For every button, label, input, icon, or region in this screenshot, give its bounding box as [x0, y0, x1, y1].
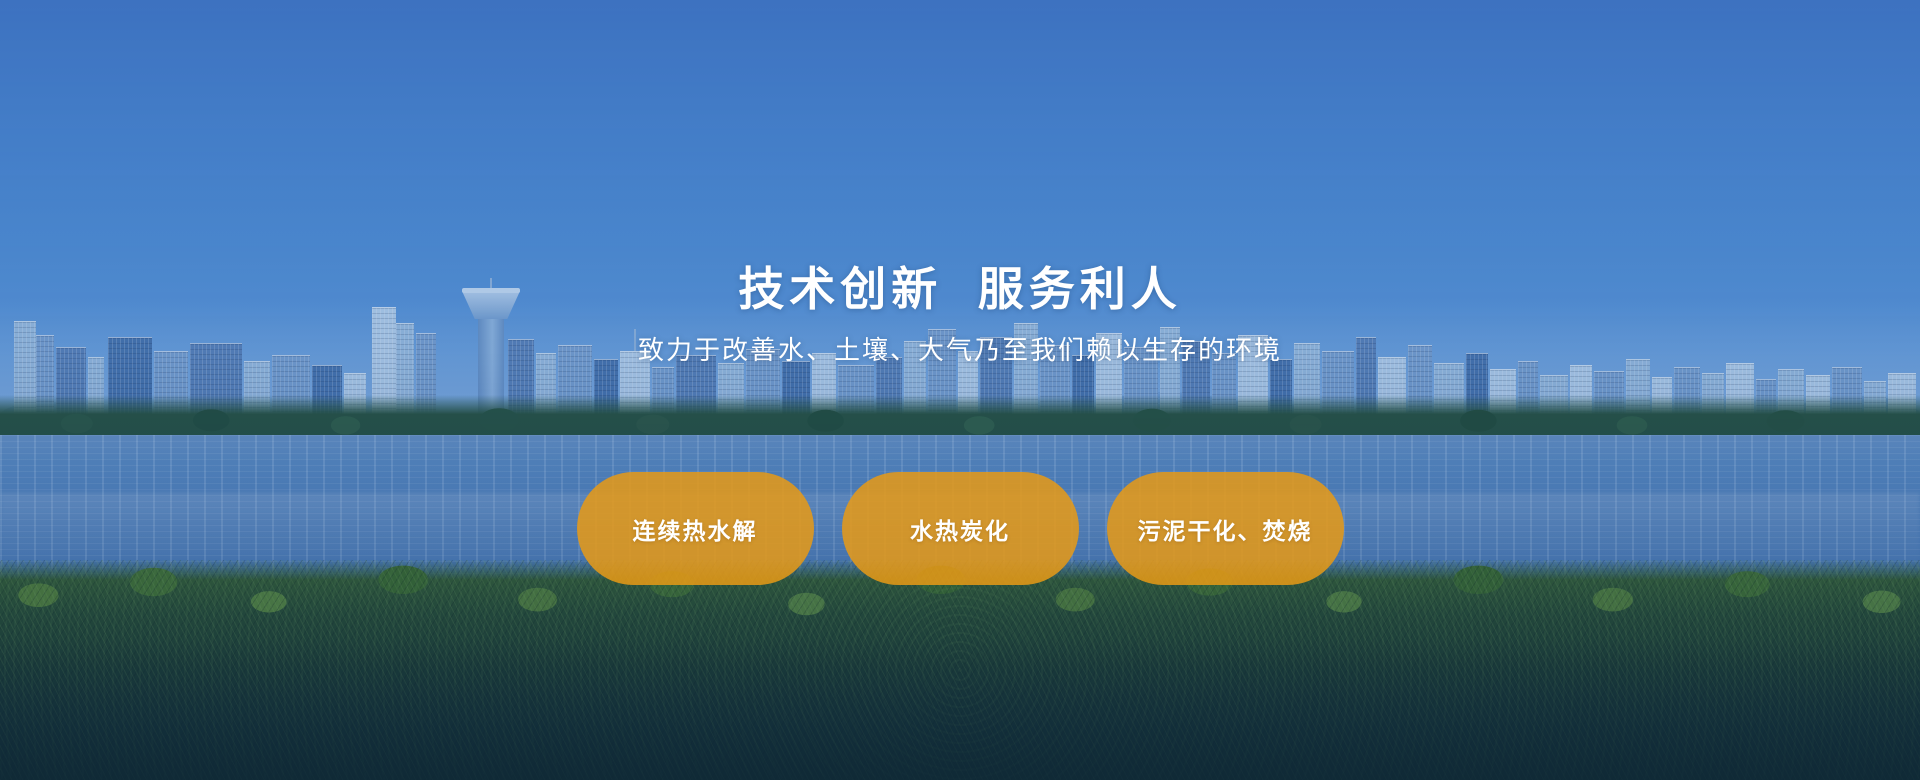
cta-button-row: 连续热水解 水热炭化 污泥干化、焚烧 — [0, 472, 1920, 585]
cta-button-hydrothermal-carbonization[interactable]: 水热炭化 — [842, 472, 1079, 585]
hero-copy: 技术创新 服务利人 致力于改善水、土壤、大气乃至我们赖以生存的环境 — [0, 262, 1920, 368]
foreground-vegetation — [0, 560, 1920, 780]
page-title: 技术创新 服务利人 — [0, 262, 1920, 316]
vegetation-shadow — [0, 640, 1920, 780]
cta-button-continuous-thermal-hydrolysis[interactable]: 连续热水解 — [577, 472, 814, 585]
page-subtitle: 致力于改善水、土壤、大气乃至我们赖以生存的环境 — [0, 334, 1920, 368]
cta-button-sludge-drying-incineration[interactable]: 污泥干化、焚烧 — [1107, 472, 1344, 585]
hero-banner: 技术创新 服务利人 致力于改善水、土壤、大气乃至我们赖以生存的环境 连续热水解 … — [0, 0, 1920, 780]
